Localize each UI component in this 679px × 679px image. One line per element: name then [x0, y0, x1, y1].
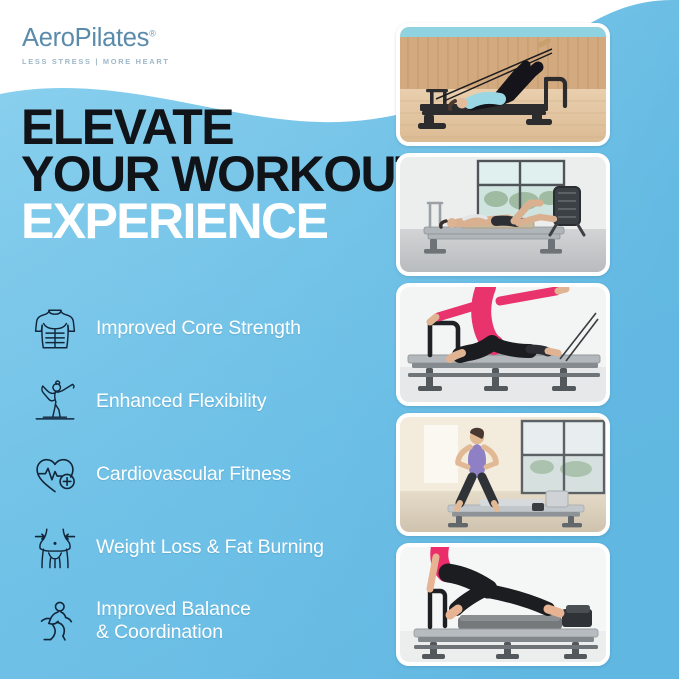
brand-name: AeroPilates® — [22, 26, 155, 52]
headline-line-1: ELEVATE — [21, 104, 421, 151]
photo-card-4[interactable] — [396, 413, 610, 536]
photo-reformer-rebounder-window — [400, 157, 606, 272]
marketing-poster: AeroPilates® LESS STRESS | MORE HEART EL… — [0, 0, 679, 679]
feature-label-line-1: Improved Balance — [96, 598, 251, 620]
feature-label: Improved Core Strength — [96, 317, 301, 340]
photo-reformer-wood-studio — [400, 27, 606, 142]
photo-purple-tank-standing — [400, 417, 606, 532]
brand-tagline: LESS STRESS | MORE HEART — [22, 57, 252, 66]
feature-item-core-strength: Improved Core Strength — [27, 292, 399, 365]
waist-slimming-icon — [27, 519, 83, 577]
photo-card-3[interactable] — [396, 283, 610, 406]
feature-item-balance: Improved Balance& Coordination — [27, 584, 399, 657]
headline-line-3: EXPERIENCE — [21, 198, 421, 245]
photo-card-stack — [396, 23, 612, 673]
brand-name-text: AeroPilates — [22, 24, 149, 52]
feature-item-flexibility: Enhanced Flexibility — [27, 365, 399, 438]
feature-label: Cardiovascular Fitness — [96, 463, 291, 486]
feature-list: Improved Core Strength En — [27, 292, 399, 657]
feature-label: Improved Balance& Coordination — [96, 598, 251, 643]
brand-logo: AeroPilates® LESS STRESS | MORE HEART — [22, 26, 252, 66]
photo-card-5[interactable] — [396, 543, 610, 666]
photo-card-1[interactable] — [396, 23, 610, 146]
registered-mark: ® — [149, 29, 155, 39]
feature-label: Enhanced Flexibility — [96, 390, 266, 413]
feature-label-line-2: & Coordination — [96, 621, 223, 643]
photo-pink-top-kneeling — [400, 287, 606, 402]
heart-pulse-plus-icon — [27, 446, 83, 504]
headline-block: ELEVATE YOUR WORKOUT EXPERIENCE — [21, 104, 421, 244]
photo-card-2[interactable] — [396, 153, 610, 276]
photo-pink-top-plank — [400, 547, 606, 662]
feature-item-cardiovascular: Cardiovascular Fitness — [27, 438, 399, 511]
headline-line-2: YOUR WORKOUT — [21, 151, 421, 198]
feature-item-weight-loss: Weight Loss & Fat Burning — [27, 511, 399, 584]
running-figure-icon — [27, 592, 83, 650]
stretching-figure-icon — [27, 373, 83, 431]
torso-abs-icon — [27, 300, 83, 358]
feature-label: Weight Loss & Fat Burning — [96, 536, 324, 559]
